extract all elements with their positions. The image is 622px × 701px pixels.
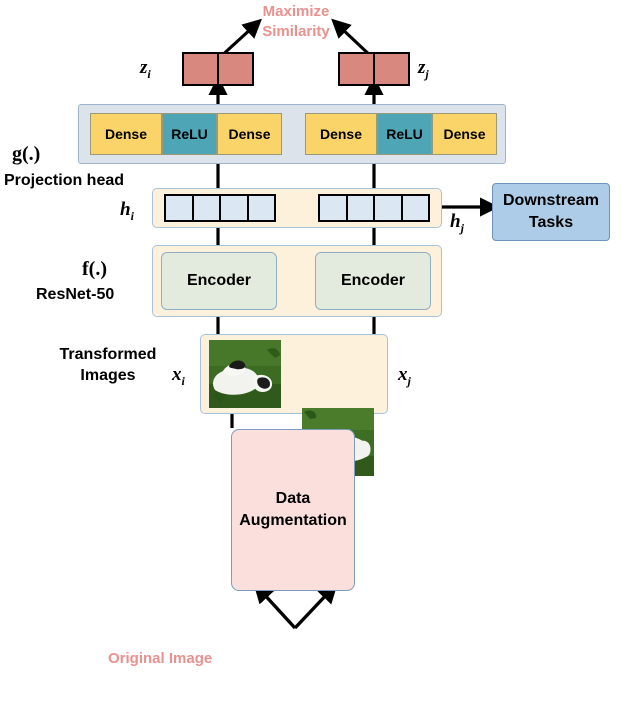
label-z-j: zj [418, 57, 429, 82]
label-h-j: hj [450, 211, 464, 236]
h-i-cell [194, 196, 222, 220]
h-j-vector [318, 194, 430, 222]
h-j-cell [348, 196, 376, 220]
left-dense-2: Dense [217, 113, 282, 155]
left-relu: ReLU [162, 113, 217, 155]
right-dense-1: Dense [305, 113, 377, 155]
label-resnet50: ResNet-50 [36, 284, 152, 305]
encoder-right: Encoder [315, 252, 431, 310]
downstream-line-1: Downstream [503, 190, 599, 212]
h-j-cell [403, 196, 429, 220]
augmentation-line-1: Data [239, 488, 347, 510]
projection-head-left-mlp: Dense ReLU Dense [90, 113, 282, 155]
transformed-images-line-2: Images [44, 365, 172, 386]
label-f-function: f(.) [82, 258, 107, 281]
arrow-original-to-aug-left [262, 592, 295, 628]
label-h-i: hi [120, 199, 134, 224]
label-transformed-images: Transformed Images [44, 344, 172, 386]
transformed-image-xi [209, 340, 281, 408]
h-j-cell [375, 196, 403, 220]
downstream-tasks-box[interactable]: Downstream Tasks [492, 183, 610, 241]
h-j-cell [320, 196, 348, 220]
label-original-image: Original Image [108, 649, 244, 669]
z-j-vector [338, 52, 410, 86]
h-i-cell [249, 196, 275, 220]
h-i-cell [221, 196, 249, 220]
right-relu: ReLU [377, 113, 432, 155]
h-i-cell [166, 196, 194, 220]
projection-head-right-mlp: Dense ReLU Dense [305, 113, 497, 155]
label-g-function: g(.) [12, 143, 40, 166]
h-i-vector [164, 194, 276, 222]
arrow-original-to-aug-right [295, 592, 329, 628]
z-i-vector [182, 52, 254, 86]
label-x-j: xj [398, 364, 411, 389]
label-projection-head: Projection head [4, 170, 152, 191]
dog-photo-crop-i [209, 340, 281, 408]
left-dense-1: Dense [90, 113, 162, 155]
simclr-diagram: Maximize Similarity zi zj Dense ReLU Den… [0, 0, 622, 701]
downstream-line-2: Tasks [503, 212, 599, 234]
transformed-images-line-1: Transformed [44, 344, 172, 365]
z-i-cell [184, 54, 219, 84]
z-i-cell [219, 54, 252, 84]
maximize-similarity-label: Maximize Similarity [236, 2, 356, 42]
z-j-cell [375, 54, 408, 84]
data-augmentation-box[interactable]: Data Augmentation [231, 429, 355, 591]
encoder-left: Encoder [161, 252, 277, 310]
right-dense-2: Dense [432, 113, 497, 155]
label-x-i: xi [172, 364, 185, 389]
label-z-i: zi [140, 57, 151, 82]
z-j-cell [340, 54, 375, 84]
augmentation-line-2: Augmentation [239, 510, 347, 532]
